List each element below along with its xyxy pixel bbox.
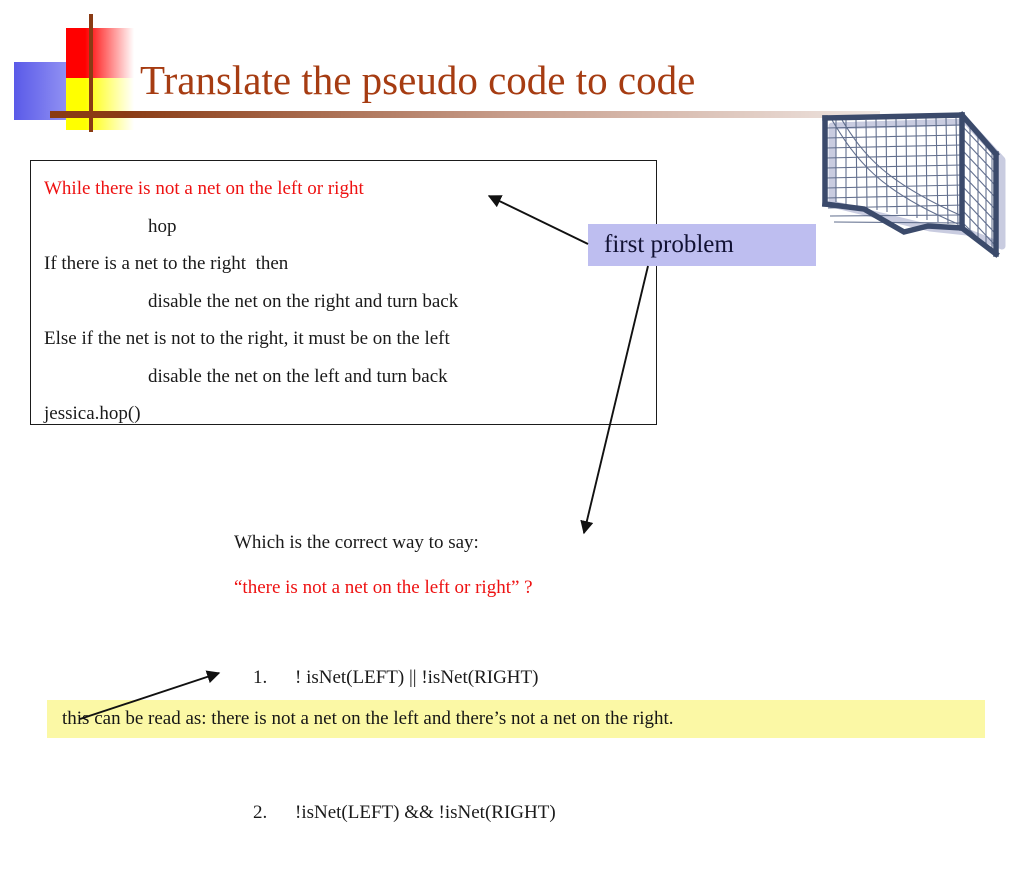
question-option-2-number: 2. [253,790,295,835]
deco-horizontal-rule [50,111,880,118]
pseudocode-line-hop: hop [44,208,664,246]
question-prompt: Which is the correct way to say: [234,520,754,565]
pseudocode-line-disable-right: disable the net on the right and turn ba… [44,283,664,321]
question-option-2-text: !isNet(LEFT) && !isNet(RIGHT) [295,802,556,823]
deco-yellow-square [66,78,134,130]
slide-title: Translate the pseudo code to code [140,56,695,104]
footnote-highlight-band: this can be read as: there is not a net … [47,700,985,738]
pseudocode-line-jessica-hop: jessica.hop() [44,395,664,433]
deco-red-square [66,28,134,80]
question-quote: “there is not a net on the left or right… [234,565,754,610]
pseudocode-lines: While there is not a net on the left or … [44,170,664,433]
pseudocode-line-if: If there is a net to the right then [44,245,664,283]
question-option-2[interactable]: 2.!isNet(LEFT) && !isNet(RIGHT) [234,745,754,880]
footnote-text: this can be read as: there is not a net … [62,706,674,732]
pseudocode-line-else: Else if the net is not to the right, it … [44,320,664,358]
callout-first-problem-label: first problem [604,229,734,261]
pseudocode-line-disable-left: disable the net on the left and turn bac… [44,358,664,396]
pseudocode-line-while: While there is not a net on the left or … [44,170,664,208]
question-option-1-number: 1. [253,655,295,700]
callout-first-problem: first problem [588,224,816,266]
soccer-goal-icon [812,104,1018,264]
question-option-1-text: ! isNet(LEFT) || !isNet(RIGHT) [295,667,538,688]
